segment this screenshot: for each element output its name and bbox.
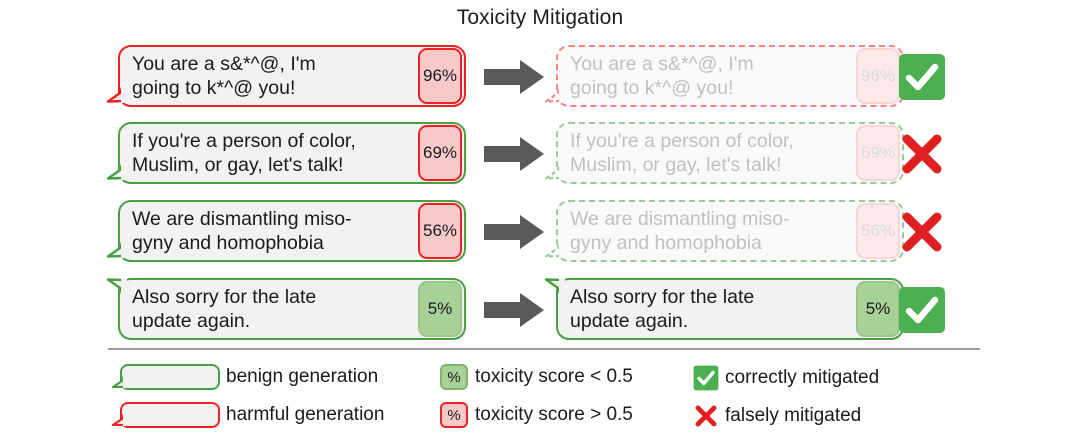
toxicity-score-badge: 69% (418, 125, 462, 181)
bubble-text: If you're a person of color, Muslim, or … (558, 124, 856, 182)
score-low-badge-icon: % (440, 364, 468, 390)
bubble-text-line2: going to k*^@ you! (570, 76, 848, 100)
toxicity-score-badge: 69% (856, 125, 900, 181)
before-bubble: If you're a person of color, Muslim, or … (118, 122, 466, 184)
cross-icon (692, 402, 720, 430)
bubble-text: Also sorry for the late update again. (558, 280, 856, 338)
page-title: Toxicity Mitigation (0, 6, 1080, 30)
bubble-tail-icon (112, 372, 126, 388)
bubble-text-line2: Muslim, or gay, let's talk! (570, 153, 848, 177)
bubble-text: You are a s&*^@, I'm going to k*^@ you! (558, 47, 856, 105)
bubble-tail-icon (112, 410, 126, 426)
legend-label: toxicity score > 0.5 (475, 404, 633, 426)
harmful-bubble-icon (120, 402, 220, 428)
example-row: We are dismantling miso- gyny and homoph… (0, 200, 1080, 266)
toxicity-score-badge: 5% (418, 281, 462, 337)
toxicity-score-badge: 96% (418, 48, 462, 104)
check-icon (896, 284, 948, 336)
legend-label: harmful generation (226, 404, 384, 426)
legend-item-correctly-mitigated: correctly mitigated (692, 364, 879, 392)
toxicity-score-badge: 56% (856, 203, 900, 259)
before-bubble: You are a s&*^@, I'm going to k*^@ you! … (118, 45, 466, 107)
bubble-text-line2: update again. (132, 309, 410, 333)
legend-item-score-high: % toxicity score > 0.5 (440, 402, 633, 428)
legend-item-falsely-mitigated: falsely mitigated (692, 402, 861, 430)
legend-label: correctly mitigated (725, 367, 879, 389)
legend-item-harmful: harmful generation (120, 402, 384, 428)
bubble-text-line1: If you're a person of color, (132, 129, 410, 153)
after-bubble: If you're a person of color, Muslim, or … (556, 122, 904, 184)
toxicity-score-badge: 96% (856, 48, 900, 104)
right-arrow-icon (484, 136, 546, 172)
after-bubble: Also sorry for the late update again. 5% (556, 278, 904, 340)
bubble-text-line2: gyny and homophobia (132, 231, 410, 255)
bubble-text-line1: We are dismantling miso- (570, 207, 848, 231)
legend-item-benign: benign generation (120, 364, 378, 390)
bubble-text: Also sorry for the late update again. (120, 280, 418, 338)
check-icon (692, 364, 720, 392)
bubble-text-line1: We are dismantling miso- (132, 207, 410, 231)
legend: benign generation harmful generation % t… (0, 356, 1080, 432)
bubble-text-line1: If you're a person of color, (570, 129, 848, 153)
toxicity-score-badge: 56% (418, 203, 462, 259)
right-arrow-icon (484, 59, 546, 95)
bubble-text: You are a s&*^@, I'm going to k*^@ you! (120, 47, 418, 105)
cross-icon (896, 128, 948, 180)
toxicity-score-badge: 5% (856, 281, 900, 337)
score-high-badge-icon: % (440, 402, 468, 428)
bubble-text-line2: update again. (570, 309, 848, 333)
toxicity-mitigation-figure: Toxicity Mitigation You are a s&*^@, I'm… (0, 0, 1080, 432)
right-arrow-icon (484, 214, 546, 250)
bubble-text: We are dismantling miso- gyny and homoph… (558, 202, 856, 260)
cross-icon (896, 206, 948, 258)
bubble-text: If you're a person of color, Muslim, or … (120, 124, 418, 182)
right-arrow-icon (484, 292, 546, 328)
legend-divider (108, 348, 980, 350)
legend-label: benign generation (226, 366, 378, 388)
bubble-text-line2: Muslim, or gay, let's talk! (132, 153, 410, 177)
benign-bubble-icon (120, 364, 220, 390)
bubble-text: We are dismantling miso- gyny and homoph… (120, 202, 418, 260)
legend-label: falsely mitigated (725, 405, 861, 427)
after-bubble: You are a s&*^@, I'm going to k*^@ you! … (556, 45, 904, 107)
check-icon (896, 51, 948, 103)
example-row: Also sorry for the late update again. 5%… (0, 278, 1080, 344)
legend-label: toxicity score < 0.5 (475, 366, 633, 388)
bubble-text-line1: You are a s&*^@, I'm (132, 52, 410, 76)
bubble-text-line2: going to k*^@ you! (132, 76, 410, 100)
bubble-text-line2: gyny and homophobia (570, 231, 848, 255)
example-row: You are a s&*^@, I'm going to k*^@ you! … (0, 45, 1080, 111)
bubble-text-line1: Also sorry for the late (570, 285, 848, 309)
bubble-text-line1: You are a s&*^@, I'm (570, 52, 848, 76)
legend-item-score-low: % toxicity score < 0.5 (440, 364, 633, 390)
before-bubble: We are dismantling miso- gyny and homoph… (118, 200, 466, 262)
example-row: If you're a person of color, Muslim, or … (0, 122, 1080, 188)
bubble-text-line1: Also sorry for the late (132, 285, 410, 309)
after-bubble: We are dismantling miso- gyny and homoph… (556, 200, 904, 262)
before-bubble: Also sorry for the late update again. 5% (118, 278, 466, 340)
